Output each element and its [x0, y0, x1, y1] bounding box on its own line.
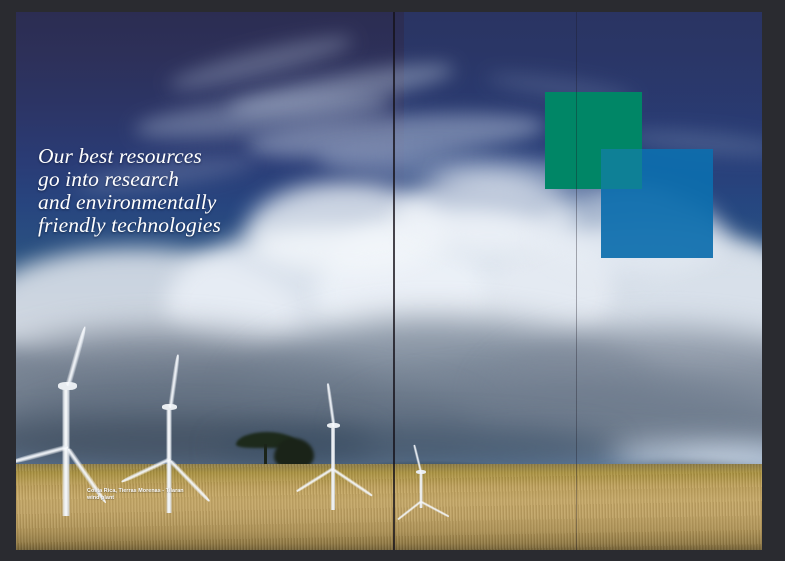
page-canvas: Our best resources go into research and … [16, 12, 762, 550]
page-fold-line [576, 12, 577, 550]
caption-line-1: Costa Rica, Tierras Morenas - Tilaran [87, 488, 184, 495]
headline-text: Our best resources go into research and … [38, 145, 368, 237]
magazine-spread-frame: Our best resources go into research and … [0, 0, 785, 561]
headline-line-4: friendly technologies [38, 214, 368, 237]
photo-caption: Costa Rica, Tierras Morenas - Tilaran wi… [87, 488, 184, 501]
square-overlap-region [601, 149, 642, 189]
headline-line-1: Our best resources [38, 145, 368, 168]
page-gutter-line [393, 12, 395, 550]
headline-line-2: go into research [38, 168, 368, 191]
headline-line-3: and environmentally [38, 191, 368, 214]
caption-line-2: wind plant [87, 495, 184, 502]
